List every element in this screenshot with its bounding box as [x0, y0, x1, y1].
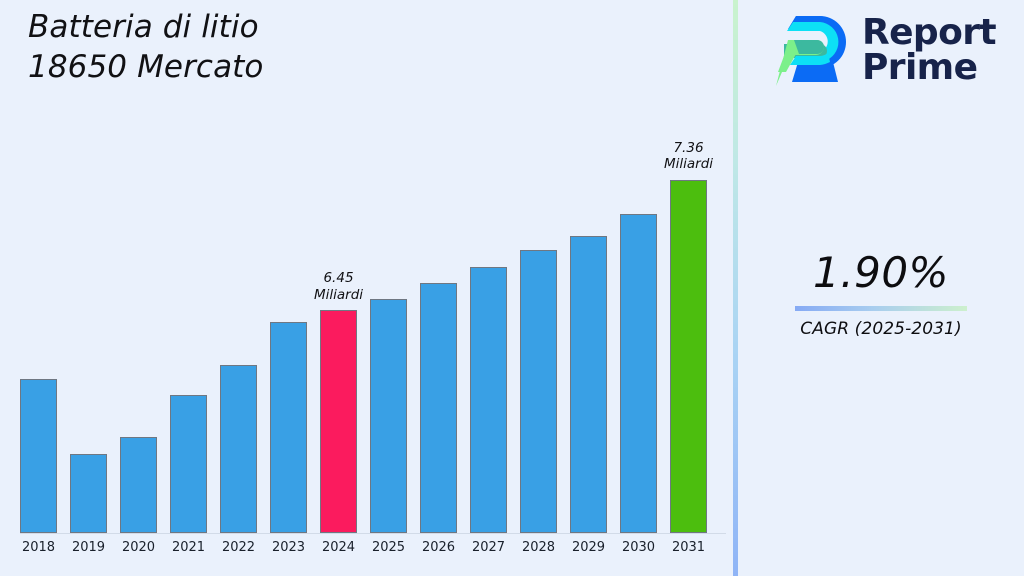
x-tick-2026: 2026 — [414, 540, 464, 555]
cagr-block: 1.90% CAGR (2025-2031) — [738, 252, 1024, 339]
x-tick-2020: 2020 — [114, 540, 164, 555]
brand-panel: Report Prime 1.90% CAGR (2025-2031) — [738, 0, 1024, 576]
x-tick-2023: 2023 — [264, 540, 314, 555]
bar-2026 — [420, 283, 457, 533]
x-axis-line — [20, 533, 726, 534]
bar-2018 — [20, 379, 57, 533]
screenshot-root: Batteria di litio 18650 Mercato 6.45 Mil… — [0, 0, 1024, 576]
chart-panel: Batteria di litio 18650 Mercato 6.45 Mil… — [0, 0, 733, 576]
bar-chart: 6.45 Miliardi7.36 Miliardi 2018201920202… — [0, 0, 733, 576]
x-tick-2025: 2025 — [364, 540, 414, 555]
bar-2021 — [170, 395, 207, 533]
x-tick-2024: 2024 — [314, 540, 364, 555]
x-tick-2022: 2022 — [214, 540, 264, 555]
cagr-label: CAGR (2025-2031) — [738, 319, 1024, 339]
x-tick-2029: 2029 — [564, 540, 614, 555]
bar-2023 — [270, 322, 307, 533]
bar-2020 — [120, 437, 157, 533]
report-prime-r-logo-icon — [776, 10, 850, 90]
bar-value-label-2031: 7.36 Miliardi — [634, 140, 744, 173]
x-tick-2028: 2028 — [514, 540, 564, 555]
x-tick-2031: 2031 — [664, 540, 714, 555]
x-tick-2021: 2021 — [164, 540, 214, 555]
brand-name-line2: Prime — [862, 47, 977, 88]
brand-logo: Report Prime — [776, 10, 996, 90]
bar-2031 — [670, 180, 707, 533]
brand-name: Report Prime — [862, 15, 996, 86]
bar-2025 — [370, 299, 407, 533]
x-tick-2030: 2030 — [614, 540, 664, 555]
bar-2019 — [70, 454, 107, 533]
cagr-value: 1.90% — [738, 252, 1024, 294]
x-tick-2019: 2019 — [64, 540, 114, 555]
bar-2027 — [470, 267, 507, 533]
cagr-divider — [795, 306, 967, 311]
bar-value-label-2024: 6.45 Miliardi — [284, 270, 394, 303]
bar-2029 — [570, 236, 607, 533]
bar-2022 — [220, 365, 257, 533]
bar-2030 — [620, 214, 657, 533]
x-tick-2018: 2018 — [14, 540, 64, 555]
x-tick-2027: 2027 — [464, 540, 514, 555]
bar-2028 — [520, 250, 557, 533]
bar-2024 — [320, 310, 357, 533]
